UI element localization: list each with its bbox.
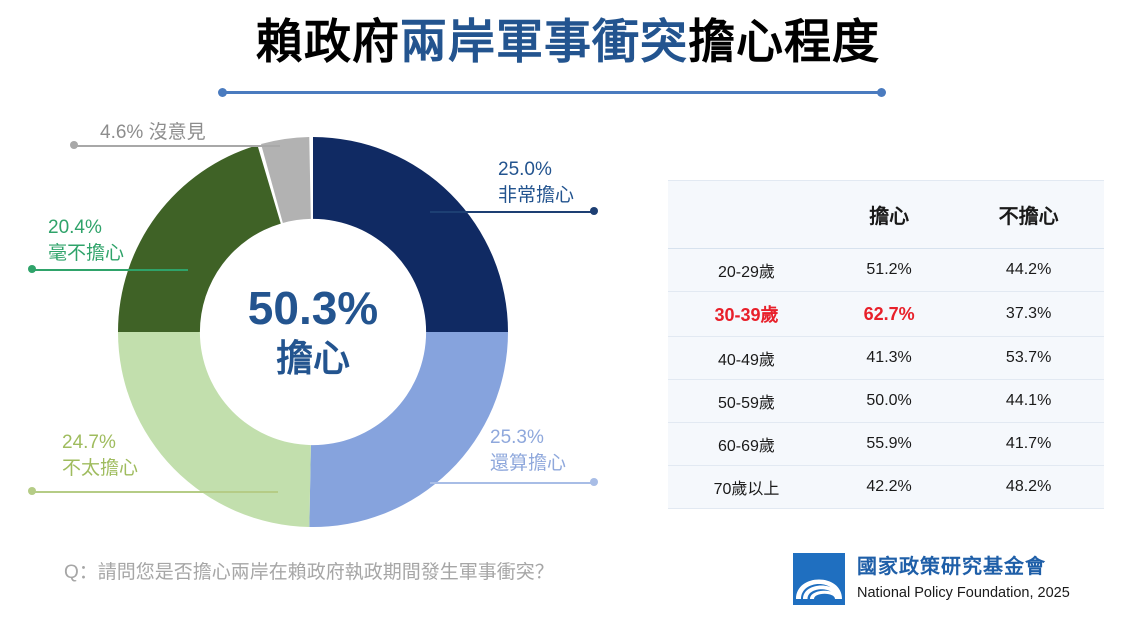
age-breakdown-table: 擔心 不擔心 20-29歲51.2%44.2%30-39歲62.7%37.3%4… <box>668 180 1104 509</box>
table-cell-age: 60-69歲 <box>668 423 825 466</box>
table-header-not-worried: 不擔心 <box>953 181 1104 249</box>
donut-chart: 50.3% 擔心 <box>118 137 508 527</box>
logo-name-en: National Policy Foundation, 2025 <box>857 584 1070 603</box>
callout-no-opinion-pct: 4.6% <box>100 122 143 143</box>
table-cell-not-worried: 44.2% <box>953 249 1104 292</box>
table-row: 50-59歲50.0%44.1% <box>668 380 1104 423</box>
logo-name-cn: 國家政策研究基金會 <box>857 555 1070 581</box>
table-cell-not-worried: 53.7% <box>953 337 1104 380</box>
leader-line-no-opinion <box>70 141 280 150</box>
leader-bar-very-worried <box>430 211 593 213</box>
table-header-age <box>668 181 825 249</box>
table-cell-worried: 62.7% <box>825 292 953 337</box>
leader-bar-not-much <box>33 491 278 493</box>
callout-somewhat-worried-pct: 25.3% <box>490 425 566 451</box>
table-cell-not-worried: 37.3% <box>953 292 1104 337</box>
callout-very-worried-label: 非常擔心 <box>498 183 574 209</box>
callout-very-worried: 25.0% 非常擔心 <box>498 157 574 209</box>
table-cell-not-worried: 44.1% <box>953 380 1104 423</box>
table-cell-age: 30-39歲 <box>668 292 825 337</box>
donut-slice-不太擔心 <box>118 332 311 527</box>
leader-bar-somewhat-worried <box>430 482 593 484</box>
table-cell-age: 50-59歲 <box>668 380 825 423</box>
table-row: 20-29歲51.2%44.2% <box>668 249 1104 292</box>
leader-bar-not-at-all <box>33 269 188 271</box>
donut-slice-非常擔心 <box>313 137 508 332</box>
table-row: 30-39歲62.7%37.3% <box>668 292 1104 337</box>
question-text: Q：請問您是否擔心兩岸在賴政府執政期間發生軍事衝突？ <box>64 558 624 587</box>
title-block: 賴政府兩岸軍事衝突擔心程度 <box>0 16 1136 69</box>
table-header-worried: 擔心 <box>825 181 953 249</box>
donut-slice-毫不擔心 <box>118 145 281 332</box>
table-cell-worried: 41.3% <box>825 337 953 380</box>
leader-line-very-worried <box>430 207 598 216</box>
logo-block: 國家政策研究基金會 National Policy Foundation, 20… <box>793 553 1070 605</box>
table-row: 70歲以上42.2%48.2% <box>668 466 1104 509</box>
donut-svg <box>118 137 508 527</box>
page-title-highlight: 兩岸軍事衝突 <box>400 15 688 68</box>
table-cell-worried: 50.0% <box>825 380 953 423</box>
callout-not-at-all-pct: 20.4% <box>48 215 124 241</box>
table-header-row: 擔心 不擔心 <box>668 181 1104 249</box>
logo-text: 國家政策研究基金會 National Policy Foundation, 20… <box>857 555 1070 602</box>
callout-somewhat-worried-label: 還算擔心 <box>490 451 566 477</box>
table-row: 40-49歲41.3%53.7% <box>668 337 1104 380</box>
leader-line-somewhat-worried <box>430 478 598 487</box>
table-cell-worried: 51.2% <box>825 249 953 292</box>
table-cell-worried: 55.9% <box>825 423 953 466</box>
leader-dot-somewhat-worried <box>590 478 598 486</box>
title-underline-cap-right <box>877 88 886 97</box>
table-cell-age: 40-49歲 <box>668 337 825 380</box>
title-underline <box>218 88 886 98</box>
title-underline-bar <box>223 91 881 94</box>
table-row: 60-69歲55.9%41.7% <box>668 423 1104 466</box>
callout-very-worried-pct: 25.0% <box>498 157 574 183</box>
infographic-root: 賴政府兩岸軍事衝突擔心程度 50.3% 擔心 4.6% 沒意見 20.4% 毫不… <box>0 0 1136 619</box>
donut-slices <box>118 137 508 527</box>
callout-not-much: 24.7% 不太擔心 <box>62 430 138 482</box>
page-title-part1: 賴政府 <box>256 15 400 68</box>
table-cell-worried: 42.2% <box>825 466 953 509</box>
table-cell-age: 20-29歲 <box>668 249 825 292</box>
table-cell-not-worried: 41.7% <box>953 423 1104 466</box>
leader-dot-very-worried <box>590 207 598 215</box>
callout-somewhat-worried: 25.3% 還算擔心 <box>490 425 566 477</box>
callout-no-opinion-label: 沒意見 <box>149 122 206 143</box>
leader-line-not-much <box>28 487 278 496</box>
page-title: 賴政府兩岸軍事衝突擔心程度 <box>0 16 1136 69</box>
callout-not-much-pct: 24.7% <box>62 430 138 456</box>
table-cell-not-worried: 48.2% <box>953 466 1104 509</box>
table-cell-age: 70歲以上 <box>668 466 825 509</box>
page-title-part2: 擔心程度 <box>688 15 880 68</box>
table-body: 20-29歲51.2%44.2%30-39歲62.7%37.3%40-49歲41… <box>668 249 1104 509</box>
callout-not-at-all: 20.4% 毫不擔心 <box>48 215 124 270</box>
donut-slice-還算擔心 <box>309 332 508 527</box>
callout-not-much-label: 不太擔心 <box>62 456 138 482</box>
leader-line-not-at-all <box>28 265 188 274</box>
leader-bar-no-opinion <box>75 145 280 147</box>
foundation-logo-icon <box>793 553 845 605</box>
